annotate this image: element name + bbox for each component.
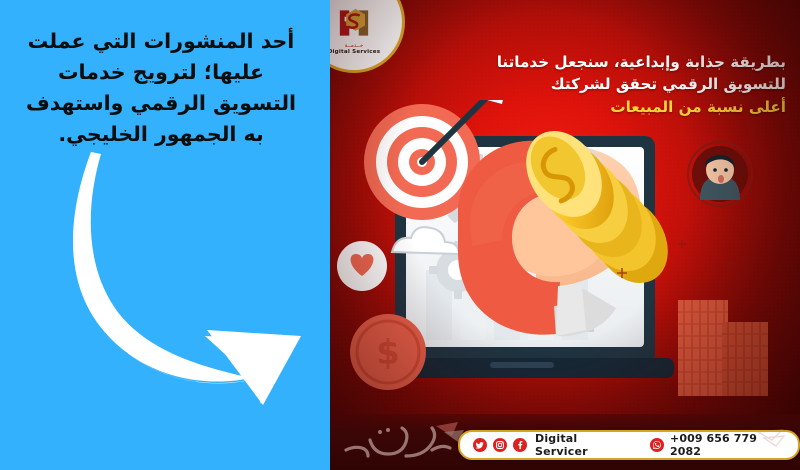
dollar-coin-icon: $: [350, 314, 426, 390]
coin-stack-icon: [678, 300, 768, 396]
blue-caption-panel: أحد المنشورات التي عملت عليها؛ لترويج خد…: [0, 0, 330, 470]
twitter-icon[interactable]: [473, 438, 487, 452]
hexagon-s-monogram-logo: [332, 4, 376, 42]
headline-line-1: بطريقة جذابة وإبداعية، سنجعل خدماتنا: [497, 53, 786, 71]
heart-badge-icon: [337, 241, 387, 291]
facebook-icon[interactable]: [513, 438, 527, 452]
caption-line-1: أحد المنشورات التي عملت: [6, 26, 316, 57]
illustration: $: [330, 100, 800, 430]
svg-text:$: $: [376, 333, 400, 373]
caption-line-2: عليها؛ لترويج خدمات: [6, 57, 316, 88]
caption-text-block: أحد المنشورات التي عملت عليها؛ لترويج خد…: [6, 26, 316, 151]
user-avatar-icon: [688, 142, 752, 206]
brand-name-label: Digital Servicer: [535, 432, 629, 458]
headline-line-2: للتسويق الرقمي تحقق لشركتك: [551, 75, 786, 93]
contact-pill[interactable]: Digital Servicer +009 656 779 2082: [458, 430, 800, 460]
footer-bar: Digital Servicer +009 656 779 2082: [330, 414, 800, 470]
curved-arrow-down-right-icon: [55, 140, 315, 405]
caption-line-3: التسويق الرقمي واستهدف: [6, 88, 316, 119]
instagram-icon[interactable]: [493, 438, 507, 452]
poster-canvas: أحد المنشورات التي عملت عليها؛ لترويج خد…: [0, 0, 800, 470]
whatsapp-icon[interactable]: [650, 438, 664, 452]
paper-plane-icon: [756, 428, 786, 448]
digital-marketing-ad-poster: خــدمــة Digital Services بطريقة جذابة و…: [330, 0, 800, 470]
